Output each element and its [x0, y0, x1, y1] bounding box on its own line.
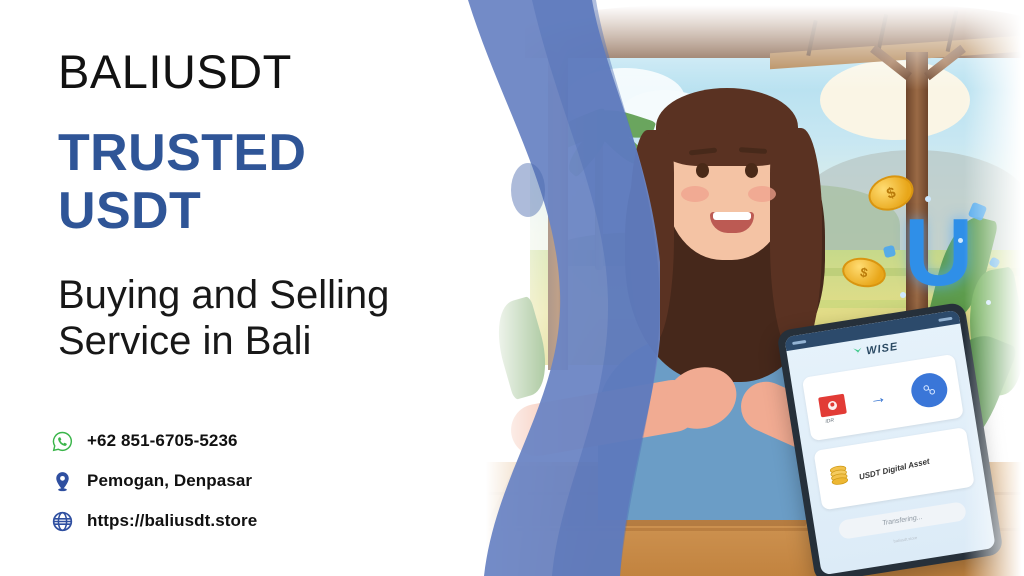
whatsapp-icon — [47, 430, 77, 453]
contact-row-whatsapp[interactable]: +62 851-6705-5236 — [47, 424, 257, 458]
globe-icon — [47, 510, 77, 533]
woman-eye — [696, 163, 709, 178]
photo-left-fade — [470, 0, 600, 576]
woman-eye — [745, 163, 758, 178]
brand-name: BALIUSDT — [58, 48, 292, 95]
conversion-card[interactable]: IDR → — [802, 354, 964, 441]
sparkle-dot — [900, 292, 906, 298]
usdt-token-symbol: U — [904, 199, 973, 306]
usdt-crystal-logo: U — [904, 208, 973, 298]
photo-right-fade — [964, 0, 1024, 576]
woman-cheek-blush — [681, 186, 709, 202]
wise-mark-icon — [851, 345, 864, 358]
transfer-status-label: Transfering... — [882, 514, 923, 527]
sparkle-dot — [925, 196, 931, 202]
website-url: https://baliusdt.store — [87, 511, 257, 531]
status-bar-right-dots — [938, 316, 952, 321]
woman-teeth — [713, 212, 751, 220]
wise-logo-text: WISE — [865, 341, 899, 358]
coin-symbol: $ — [884, 184, 897, 203]
idr-flag-icon — [818, 394, 847, 418]
woman-hair-strand — [770, 128, 822, 358]
coin-stack-icon — [825, 460, 855, 495]
transfer-arrow-icon: → — [868, 387, 888, 409]
asset-card[interactable]: USDT Digital Asset — [813, 427, 974, 510]
usdt-network-icon — [908, 371, 949, 410]
headline: TRUSTED USDT — [58, 124, 306, 240]
contact-list: +62 851-6705-5236 Pemogan, Denpasar — [47, 424, 257, 544]
address-text: Pemogan, Denpasar — [87, 471, 252, 491]
woman-cheek-blush — [748, 186, 776, 202]
hero-illustration: $ $ U — [470, 0, 1024, 576]
woman-hair-strand — [630, 130, 674, 345]
promo-banner: $ $ U — [0, 0, 1024, 576]
asset-card-label: USDT Digital Asset — [858, 456, 930, 481]
contact-row-address[interactable]: Pemogan, Denpasar — [47, 464, 257, 498]
location-pin-icon — [47, 470, 77, 493]
sparkle-dot — [958, 238, 963, 243]
subheadline: Buying and Selling Service in Bali — [58, 272, 389, 365]
coin-symbol: $ — [859, 264, 869, 280]
status-bar-left-dots — [792, 339, 806, 344]
contact-row-website[interactable]: https://baliusdt.store — [47, 504, 257, 538]
whatsapp-number: +62 851-6705-5236 — [87, 431, 238, 451]
idr-currency-label: IDR — [825, 418, 834, 425]
